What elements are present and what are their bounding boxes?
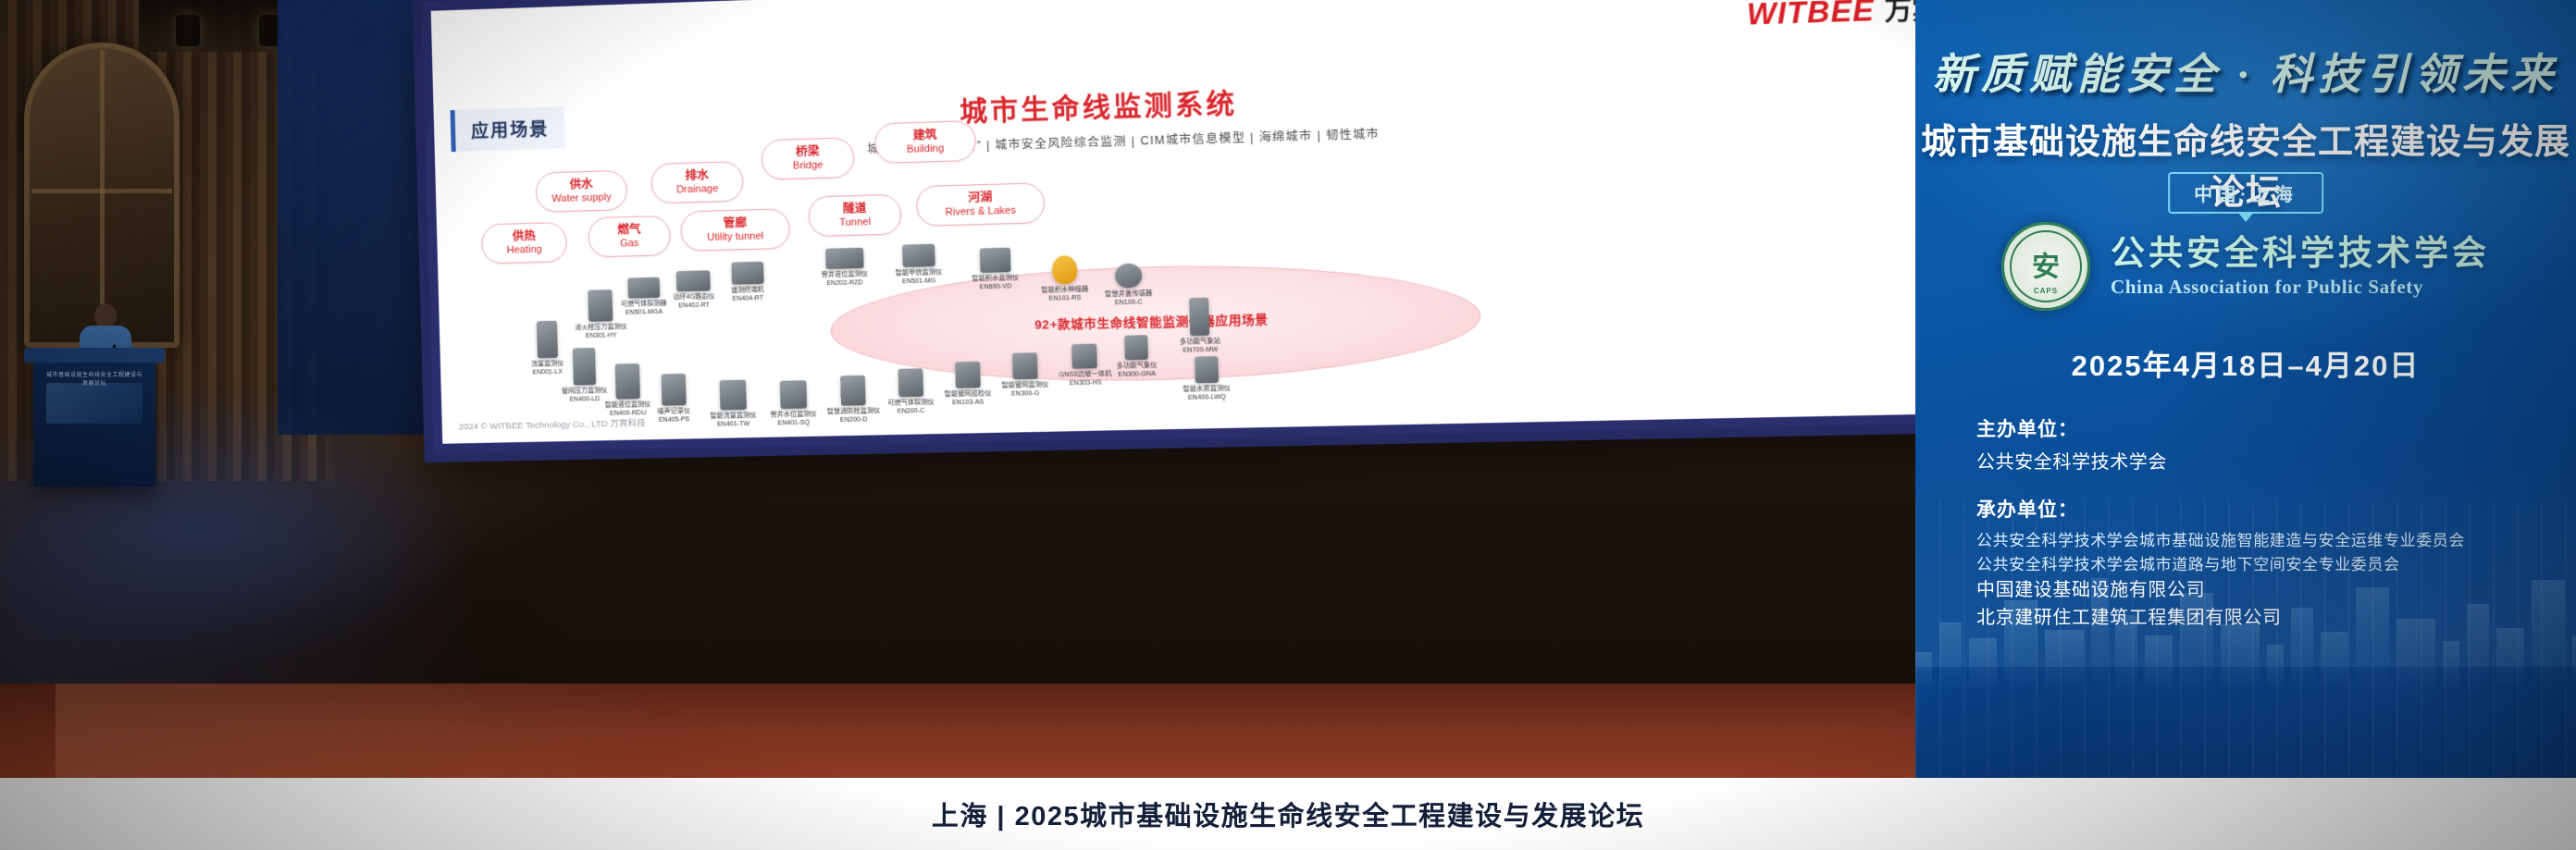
device-item: 流量监测仪EN001-LX bbox=[530, 321, 564, 377]
device-item: 可燃气体探测仪EN200-C bbox=[886, 368, 935, 416]
event-dates: 2025年4月18日–4月20日 bbox=[1915, 342, 2576, 384]
organizer-name: 公共安全科学技术学会城市基础设施智能建造与安全运维专业委员会 bbox=[1976, 529, 2550, 553]
organizer-list: 主办单位：公共安全科学技术学会承办单位：公共安全科学技术学会城市基础设施智能建造… bbox=[1976, 414, 2550, 650]
device-item: 智能甲烷监测仪EN501-MG bbox=[895, 243, 943, 286]
device-icon bbox=[1051, 255, 1077, 284]
device-model: EN404-RT bbox=[731, 295, 764, 303]
stage-light bbox=[176, 15, 200, 46]
scenario-pill: 管廊Utility tunnel bbox=[680, 208, 790, 252]
organizer-heading: 承办单位： bbox=[1976, 495, 2550, 523]
device-model: EN303-HS bbox=[1059, 379, 1112, 388]
scenario-pill: 隧道Tunnel bbox=[808, 194, 902, 238]
skyline-building bbox=[2291, 608, 2313, 689]
device-icon bbox=[1195, 356, 1219, 383]
skyline-building bbox=[2045, 630, 2084, 689]
device-name: 智能积水监测仪 bbox=[972, 275, 1019, 284]
banner-calligraphy-title: 新质赋能安全 · 科技引领未来 bbox=[1915, 41, 2576, 102]
device-item: 多功能气象仪EN300-GNA bbox=[1116, 335, 1158, 379]
device-icon bbox=[955, 362, 981, 388]
device-item: 可燃气体探测器EN501-MGA bbox=[620, 277, 667, 318]
led-presentation-screen: WITBEE 万宾 应用场景 城市生命线监测系统 城市治理“一网统管” | 城市… bbox=[421, 0, 1996, 453]
device-icon bbox=[902, 244, 935, 267]
device-icon bbox=[825, 248, 864, 269]
device-model: EN200-D bbox=[827, 416, 881, 425]
device-icon bbox=[661, 374, 686, 406]
seal-abbreviation: CAPS bbox=[2001, 287, 2090, 295]
scenario-label-en: Tunnel bbox=[810, 216, 901, 231]
device-name: 可燃气体探测仪 bbox=[887, 400, 935, 409]
association-block: 安 CAPS 公共安全科学技术学会 China Association for … bbox=[1915, 222, 2576, 311]
scenario-pill: 建筑Building bbox=[874, 120, 976, 164]
bottom-caption-bar: 上海 | 2025城市基础设施生命线安全工程建设与发展论坛 bbox=[0, 778, 2576, 850]
device-item: GNSS边坡一体机EN303-HS bbox=[1059, 343, 1112, 388]
organizer-heading: 主办单位： bbox=[1976, 414, 2550, 442]
device-item: 智能积水伸缩器EN101-RS bbox=[1040, 255, 1088, 303]
organizer-group: 承办单位：公共安全科学技术学会城市基础设施智能建造与安全运维专业委员会公共安全科… bbox=[1976, 495, 2550, 632]
skyline-building bbox=[2443, 641, 2459, 689]
scenario-pill: 河湖Rivers & Lakes bbox=[916, 182, 1046, 227]
association-name-cn: 公共安全科学技术学会 bbox=[2111, 234, 2490, 272]
skyline-building bbox=[2572, 635, 2576, 689]
seal-glyph: 安 bbox=[2032, 243, 2060, 284]
device-icon bbox=[572, 348, 595, 386]
device-model: EN001-LX bbox=[531, 368, 563, 376]
device-icon bbox=[536, 321, 557, 359]
scenario-label-en: Rivers & Lakes bbox=[917, 203, 1044, 220]
device-item: 窨井液位监测仪EN202-RZD bbox=[821, 248, 868, 289]
organizer-name: 北京建研住工建筑工程集团有限公司 bbox=[1976, 604, 2550, 632]
scenario-pill: 供水Water supply bbox=[535, 170, 627, 213]
podium-logo bbox=[46, 383, 142, 424]
device-item: 智慧井盖传感器EN100-C bbox=[1104, 263, 1152, 307]
device-item: 遥测终端机EN404-RT bbox=[730, 262, 764, 303]
section-tag: 应用场景 bbox=[451, 106, 565, 152]
device-model: EN700-MW bbox=[1180, 346, 1220, 355]
skyline-building bbox=[2356, 587, 2389, 689]
skyline-building bbox=[2467, 604, 2489, 689]
device-model: EN401-TW bbox=[711, 420, 757, 429]
device-icon bbox=[1189, 298, 1209, 337]
device-icon bbox=[588, 289, 613, 322]
scenario-label-en: Building bbox=[875, 142, 974, 157]
floor-reflection bbox=[56, 684, 981, 793]
device-item: 管网压力监测仪EN400-LD bbox=[561, 348, 608, 404]
scenario-pill: 桥梁Bridge bbox=[761, 137, 854, 180]
slide-copyright: 2024 © WITBEE Technology Co., LTD 万宾科技 bbox=[459, 415, 646, 432]
device-model: EN301-HY bbox=[575, 332, 627, 341]
scenario-label-en: Bridge bbox=[762, 158, 853, 174]
device-icon bbox=[731, 262, 763, 285]
device-name: 智能液位监测仪 bbox=[605, 401, 651, 411]
organizer-name: 公共安全科学技术学会城市道路与地下空间安全专业委员会 bbox=[1976, 553, 2550, 577]
scenario-label-en: Water supply bbox=[537, 191, 626, 207]
speaker-head bbox=[94, 303, 117, 328]
device-item: 智能管网监测仪EN300-G bbox=[1001, 352, 1049, 399]
skyline-building bbox=[1969, 638, 1997, 689]
device-item: 智能水质监测仪EN400-LWQ bbox=[1182, 356, 1231, 402]
device-name: 多功能气象站 bbox=[1180, 338, 1220, 347]
skyline-building bbox=[2221, 624, 2260, 689]
device-icon bbox=[719, 380, 746, 411]
device-name: 智能管网监测仪 bbox=[1001, 382, 1048, 391]
device-model: EN401-SQ bbox=[771, 419, 817, 428]
arched-window bbox=[24, 43, 180, 348]
podium-top bbox=[24, 348, 165, 363]
device-icon bbox=[627, 277, 660, 299]
device-name: 噪声记录仪 bbox=[657, 408, 690, 416]
location-badge: 中国·上海 bbox=[2168, 172, 2323, 214]
skyline-building bbox=[2145, 635, 2173, 689]
device-model: EN200-C bbox=[887, 407, 935, 416]
device-name: 遥测终端机 bbox=[731, 287, 764, 296]
device-name: 智慧消防栓监测仪 bbox=[827, 408, 881, 417]
device-icon bbox=[979, 248, 1010, 273]
device-model: EN103-AS bbox=[945, 399, 992, 408]
podium: 城市基础设施生命线安全工程建设与发展论坛 bbox=[33, 357, 155, 487]
scenario-label-en: Heating bbox=[482, 243, 566, 258]
event-banner-backdrop: 新质赋能安全 · 科技引领未来 城市基础设施生命线安全工程建设与发展论坛 中国·… bbox=[1915, 0, 2576, 778]
device-icon bbox=[614, 363, 639, 400]
device-name: 窨井水位监测仪 bbox=[770, 411, 816, 420]
skyline-building bbox=[2115, 615, 2137, 689]
device-name: 智能流量监测仪 bbox=[710, 413, 756, 422]
device-item: 智能流量监测仪EN401-TW bbox=[709, 379, 756, 429]
device-model: EN400-LWQ bbox=[1183, 393, 1232, 402]
device-model: EN405-PS bbox=[658, 416, 691, 425]
device-icon bbox=[676, 270, 711, 291]
device-icon bbox=[1011, 352, 1037, 379]
screenshot-root: 城市基础设施生命线安全工程建设与发展论坛 WITBEE 万宾 应用场景 城市生命… bbox=[0, 0, 2576, 850]
device-model: EN202-RZD bbox=[822, 279, 868, 289]
device-item: 噪声记录仪EN405-PS bbox=[656, 374, 690, 425]
device-item: 消火栓压力监测仪EN301-HY bbox=[574, 289, 627, 341]
device-name: 智能管网巡检仪 bbox=[945, 390, 992, 400]
skyline-building bbox=[2267, 645, 2284, 689]
slide-content: WITBEE 万宾 应用场景 城市生命线监测系统 城市治理“一网统管” | 城市… bbox=[431, 0, 1986, 444]
scenario-label-en: Utility tunnel bbox=[682, 229, 789, 245]
device-icon bbox=[1114, 263, 1142, 288]
skyline-building bbox=[2091, 578, 2108, 689]
association-name-en: China Association for Public Safety bbox=[2111, 276, 2490, 299]
device-item: 多功能气象站EN700-MW bbox=[1179, 297, 1221, 355]
scenario-pill: 排水Drainage bbox=[650, 161, 744, 204]
witbee-logo: WITBEE 万宾 bbox=[1746, 0, 1939, 32]
skyline-building bbox=[2321, 632, 2348, 689]
caption-text: 上海 | 2025城市基础设施生命线安全工程建设与发展论坛 bbox=[932, 795, 1644, 833]
device-item: 智能管网巡检仪EN103-AS bbox=[944, 362, 992, 408]
device-icon bbox=[1072, 344, 1098, 369]
device-item: 智能积水监测仪EN600-VD bbox=[971, 247, 1019, 291]
banner-cityscape bbox=[1915, 523, 2576, 689]
caps-seal-logo: 安 CAPS bbox=[2001, 222, 2090, 311]
skyline-building bbox=[2532, 580, 2565, 689]
device-name: 智能水质监测仪 bbox=[1183, 386, 1231, 395]
device-icon bbox=[840, 376, 866, 406]
skyline-building bbox=[2180, 593, 2213, 689]
device-model: EN300-GNA bbox=[1117, 370, 1158, 379]
device-name: 智慧井盖传感器 bbox=[1105, 290, 1152, 300]
device-model: EN101-RS bbox=[1041, 294, 1088, 303]
skyline-building bbox=[1915, 652, 1932, 689]
device-name: 智能积水伸缩器 bbox=[1041, 286, 1088, 295]
skyline-building bbox=[2004, 600, 2037, 689]
association-names: 公共安全科学技术学会 China Association for Public … bbox=[2111, 234, 2490, 298]
device-model: EN400-LD bbox=[562, 395, 608, 404]
device-model: EN100-C bbox=[1105, 299, 1152, 308]
organizer-name: 中国建设基础设施有限公司 bbox=[1976, 576, 2550, 604]
organizer-group: 主办单位：公共安全科学技术学会 bbox=[1976, 414, 2550, 476]
skyline-building bbox=[2496, 628, 2524, 689]
device-name: 消火栓压力监测仪 bbox=[575, 324, 627, 333]
device-item: 动环4G路由仪EN402-RT bbox=[673, 270, 715, 311]
device-name: 流量监测仪 bbox=[531, 361, 563, 369]
slide-title: 城市生命线监测系统 bbox=[959, 82, 1237, 130]
device-model: EN501-MG bbox=[896, 277, 943, 287]
scenario-pill: 燃气Gas bbox=[588, 216, 671, 258]
device-model: EN501-MGA bbox=[621, 308, 667, 317]
device-name: 多功能气象仪 bbox=[1117, 363, 1158, 372]
scenario-pill: 供热Heating bbox=[481, 222, 567, 265]
device-item: 智能液位监测仪EN400-RDU bbox=[604, 363, 651, 419]
skyline-building bbox=[1939, 622, 1962, 689]
device-model: EN300-G bbox=[1002, 389, 1049, 399]
device-name: 管网压力监测仪 bbox=[562, 388, 608, 397]
skyline-building bbox=[2396, 619, 2435, 689]
device-icon bbox=[898, 368, 923, 397]
scenario-label-en: Drainage bbox=[652, 182, 743, 198]
device-icon bbox=[779, 380, 806, 409]
device-name: GNSS边坡一体机 bbox=[1059, 371, 1111, 380]
device-icon bbox=[1124, 335, 1148, 360]
brand-name-en: WITBEE bbox=[1746, 0, 1875, 32]
device-item: 窨井水位监测仪EN401-SQ bbox=[770, 380, 817, 428]
scenario-label-en: Gas bbox=[589, 237, 670, 252]
device-model: EN600-VD bbox=[972, 283, 1019, 292]
device-item: 智慧消防栓监测仪EN200-D bbox=[826, 375, 881, 425]
device-model: EN402-RT bbox=[674, 302, 715, 311]
organizer-name: 公共安全科学技术学会 bbox=[1976, 449, 2550, 476]
